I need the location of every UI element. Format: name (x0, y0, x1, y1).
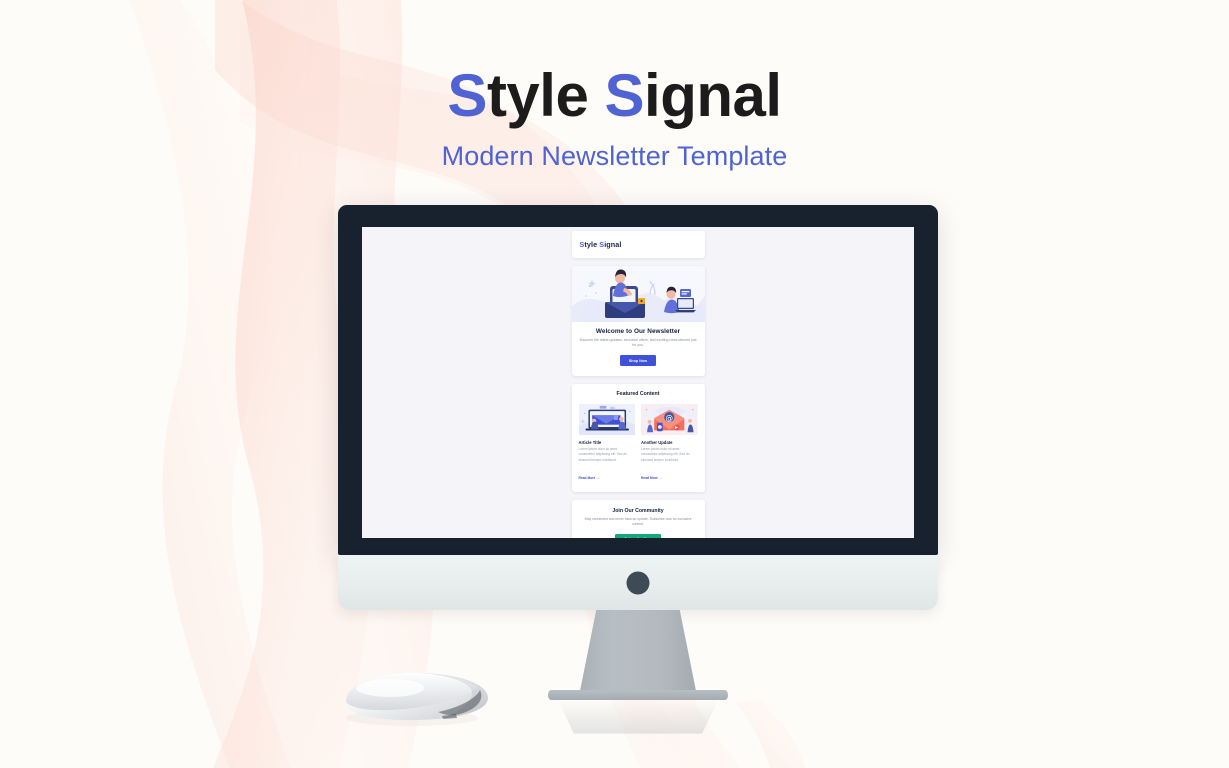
featured-card-title: Another Update (641, 440, 698, 445)
poster-stage: Style Signal Modern Newsletter Template … (0, 0, 1229, 768)
shop-now-button[interactable]: Shop Now (620, 355, 656, 366)
community-title: Join Our Community (580, 508, 697, 514)
envelope-at-symbol-illustration: @ (641, 403, 698, 436)
monitor-bezel: Style Signal (338, 205, 938, 555)
monitor-chin (338, 555, 938, 610)
email-featured-section: Featured Content (572, 384, 705, 492)
brand-rest-1: tyle (584, 240, 599, 249)
laptop-email-illustration (579, 403, 636, 436)
community-text: Stay connected and never miss an update.… (580, 517, 697, 528)
title-accent-s1: S (447, 62, 487, 129)
title-rest-2: ignal (644, 62, 782, 129)
read-more-link[interactable]: Read More → (641, 476, 662, 480)
featured-card: @ (641, 403, 698, 484)
email-brand-bar: Style Signal (572, 231, 705, 258)
email-hero-block: Welcome to Our Newsletter Discover the l… (572, 266, 705, 376)
home-button-icon (627, 571, 650, 594)
read-more-link[interactable]: Read More → (579, 476, 600, 480)
newsletter-signup-illustration (572, 266, 705, 322)
email-hero-text: Discover the latest updates, exclusive o… (580, 338, 697, 349)
stand-base (548, 690, 728, 700)
featured-card-text: Lorem ipsum dolor sit amet, consectetur … (579, 447, 636, 462)
computer-mouse (334, 668, 496, 730)
desktop-monitor-mockup: Style Signal (338, 205, 938, 610)
page-title: Style Signal (0, 62, 1229, 129)
title-accent-s2: S (605, 62, 645, 129)
email-hero-body: Welcome to Our Newsletter Discover the l… (572, 322, 705, 376)
page-subtitle: Modern Newsletter Template (0, 141, 1229, 172)
featured-card-text: Lorem ipsum dolor sit amet, consectetur … (641, 447, 698, 462)
featured-section-title: Featured Content (579, 391, 698, 397)
email-hero-heading: Welcome to Our Newsletter (580, 328, 697, 335)
svg-text:@: @ (665, 413, 673, 422)
title-rest-1: tyle (487, 62, 605, 129)
hero-header: Style Signal Modern Newsletter Template (0, 62, 1229, 172)
email-template-column: Style Signal (572, 227, 705, 538)
featured-card-title: Article Title (579, 440, 636, 445)
featured-card: Article Title Lorem ipsum dolor sit amet… (579, 403, 636, 484)
subscribe-now-button[interactable]: Subscribe Now (615, 534, 660, 538)
email-community-section: Join Our Community Stay connected and ne… (572, 500, 705, 538)
stand-neck (580, 610, 696, 698)
monitor-screen: Style Signal (362, 227, 914, 538)
stand-reflection (558, 700, 718, 734)
brand-rest-2: ignal (604, 240, 621, 249)
featured-cards-grid: Article Title Lorem ipsum dolor sit amet… (579, 403, 698, 484)
email-brand-logo: Style Signal (580, 240, 697, 249)
